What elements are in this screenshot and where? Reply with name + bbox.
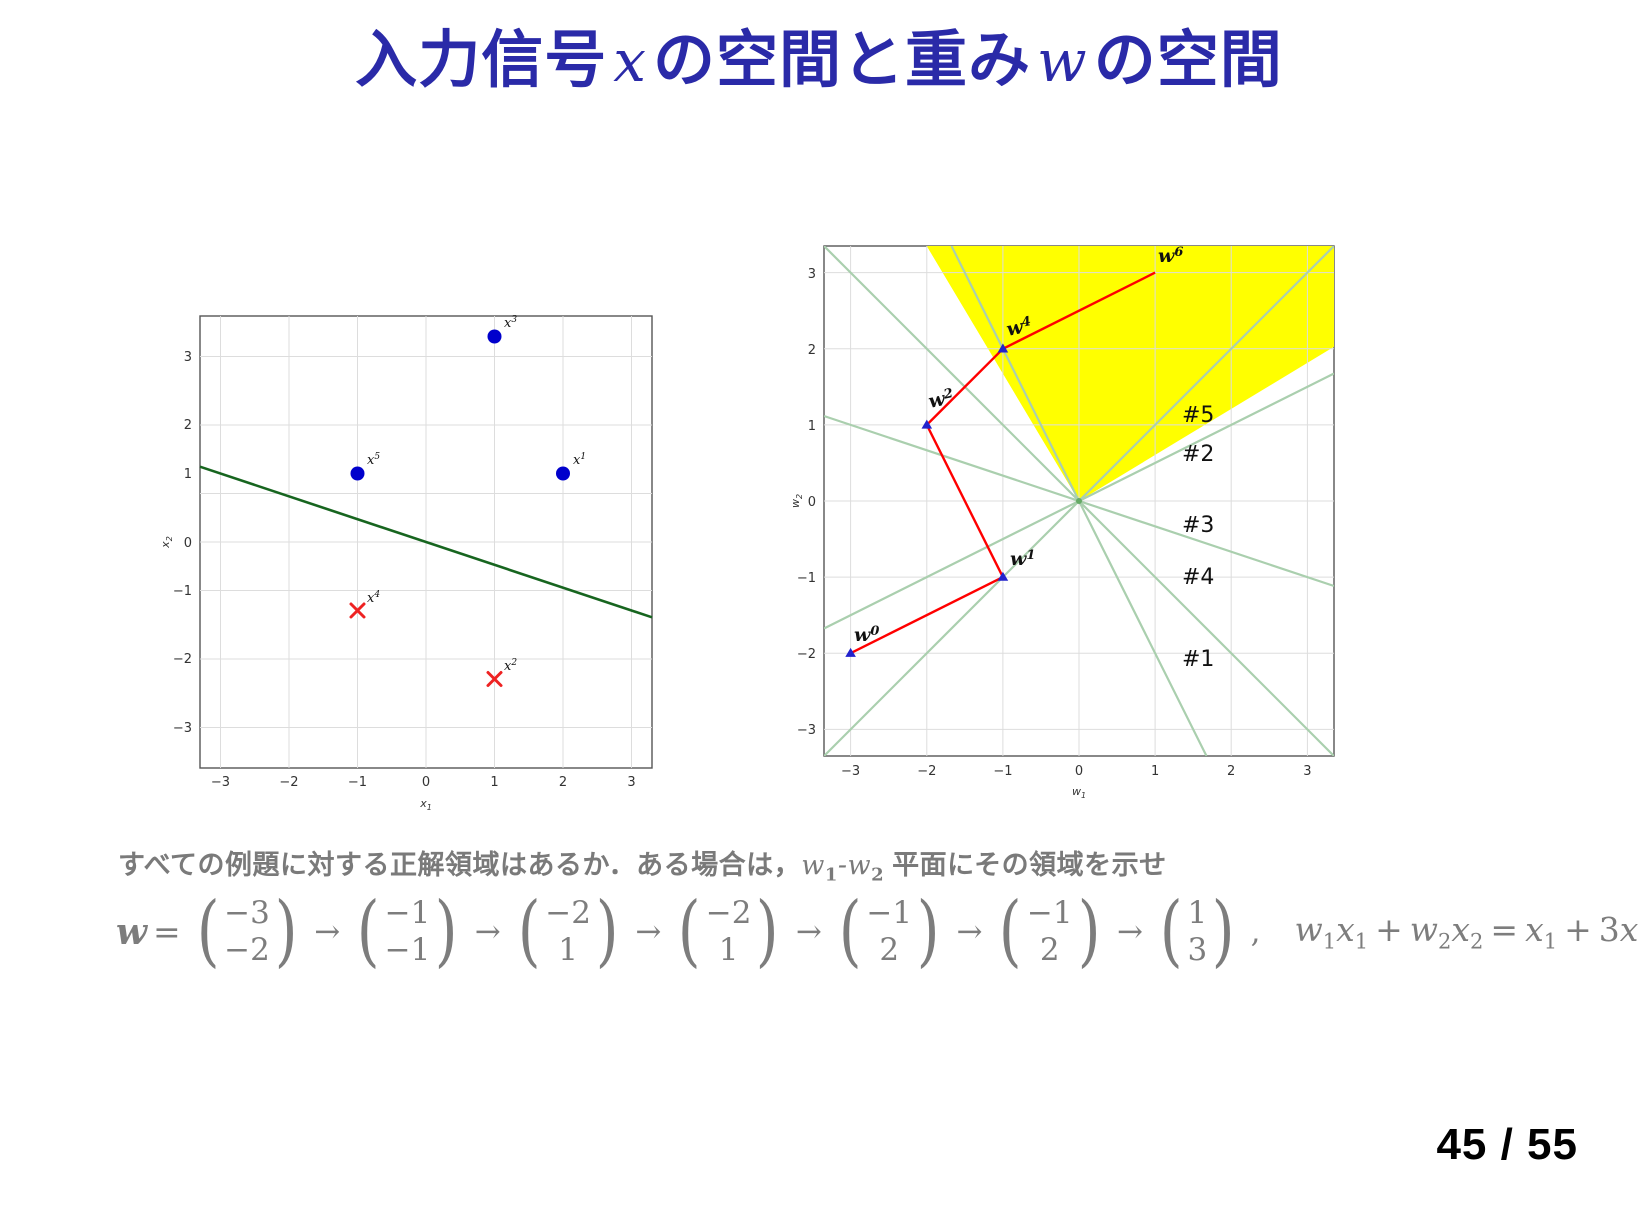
paren-close: ) xyxy=(1212,907,1235,955)
question-math-w1: w xyxy=(801,850,825,881)
weight-update-equation: w = ( −3 −2 ) → ( −1 −1 ) → ( −2 1 xyxy=(116,895,1638,968)
tail-x1: x xyxy=(1336,910,1355,949)
tail-x1b-sub: 1 xyxy=(1544,929,1557,953)
equation-equals: = xyxy=(153,912,181,951)
vector-3-bottom: 1 xyxy=(719,932,739,969)
arrow-5: → xyxy=(1117,914,1143,950)
svg-text:0: 0 xyxy=(422,775,430,790)
svg-text:2: 2 xyxy=(184,418,192,433)
vector-5-top: −1 xyxy=(1027,895,1073,932)
question-text: すべての例題に対する正解領域はあるか．ある場合は，w1-w2 平面にその領域を示… xyxy=(118,843,1167,885)
svg-text:−2: −2 xyxy=(279,775,298,790)
paren-open: ( xyxy=(839,907,862,955)
arrow-3: → xyxy=(796,914,822,950)
vector-0-top: −3 xyxy=(224,895,270,932)
svg-text:2: 2 xyxy=(559,775,567,790)
svg-text:1: 1 xyxy=(184,467,192,482)
vector-3: ( −2 1 ) xyxy=(674,895,783,968)
svg-text:1: 1 xyxy=(490,775,498,790)
chart-input-space: x1 x3 x5 x4 x2 −3 −2 −1 xyxy=(152,288,682,818)
vector-4-bottom: 2 xyxy=(879,932,899,969)
svg-text:2: 2 xyxy=(1227,764,1235,779)
paren-open: ( xyxy=(678,907,701,955)
tail-x2: x xyxy=(1451,910,1470,949)
vector-0: ( −3 −2 ) xyxy=(193,895,302,968)
decision-function-equation: w1x1+w2x2=x1+3x2= 0 xyxy=(1295,910,1638,954)
vector-0-bottom: −2 xyxy=(224,932,270,969)
svg-text:−2: −2 xyxy=(797,647,816,662)
paren-close: ) xyxy=(435,907,458,955)
svg-text:−3: −3 xyxy=(211,775,230,790)
svg-text:−1: −1 xyxy=(797,571,816,586)
svg-text:−2: −2 xyxy=(917,764,936,779)
title-var-x: x xyxy=(607,27,653,95)
vector-4-top: −1 xyxy=(866,895,912,932)
svg-text:−1: −1 xyxy=(993,764,1012,779)
y-axis-label: x2 xyxy=(159,536,174,549)
svg-text:−3: −3 xyxy=(173,721,192,736)
vector-5: ( −1 2 ) xyxy=(995,895,1104,968)
paren-close: ) xyxy=(275,907,298,955)
paren-close: ) xyxy=(756,907,779,955)
svg-text:1: 1 xyxy=(1151,764,1159,779)
constraint-label-2: #2 xyxy=(1182,442,1214,467)
svg-text:−3: −3 xyxy=(841,764,860,779)
x-axis-label: x1 xyxy=(419,797,432,812)
svg-text:2: 2 xyxy=(808,343,816,358)
input-space-svg: x1 x3 x5 x4 x2 −3 −2 −1 xyxy=(152,288,682,818)
question-text-b: 平面にその領域を示せ xyxy=(892,850,1166,880)
paren-close: ) xyxy=(1077,907,1100,955)
vector-1-bottom: −1 xyxy=(385,932,431,969)
origin-marker xyxy=(1076,498,1082,504)
svg-text:−2: −2 xyxy=(173,652,192,667)
svg-text:−1: −1 xyxy=(173,584,192,599)
constraint-label-5: #5 xyxy=(1182,403,1214,428)
constraint-label-3: #3 xyxy=(1182,513,1214,538)
weight-space-svg: w0 w1 w2 w4 w6 #5 #2 #3 #4 #1 −3 −2 −1 0… xyxy=(786,232,1362,808)
vector-2: ( −2 1 ) xyxy=(514,895,623,968)
svg-text:0: 0 xyxy=(808,495,816,510)
paren-open: ( xyxy=(518,907,541,955)
title-prefix: 入力信号 xyxy=(355,26,607,95)
svg-text:−3: −3 xyxy=(797,723,816,738)
vector-5-bottom: 2 xyxy=(1040,932,1060,969)
tail-w2: w xyxy=(1410,910,1438,949)
arrow-4: → xyxy=(956,914,982,950)
vector-6: ( 1 3 ) xyxy=(1156,895,1239,968)
vector-3-top: −2 xyxy=(706,895,752,932)
svg-text:3: 3 xyxy=(627,775,635,790)
x-axis-label: w1 xyxy=(1072,785,1086,800)
question-text-a: すべての例題に対する正解領域はあるか．ある場合は， xyxy=(118,850,801,880)
question-math-sub2: 2 xyxy=(871,864,884,885)
vector-1: ( −1 −1 ) xyxy=(353,895,462,968)
vector-2-top: −2 xyxy=(545,895,591,932)
data-point-x3 xyxy=(488,330,502,344)
tail-x1-sub: 1 xyxy=(1355,929,1368,953)
tail-x2b: x xyxy=(1620,910,1638,949)
question-math-w2: w xyxy=(847,850,871,881)
page-number: 45 / 55 xyxy=(1436,1120,1578,1170)
paren-close: ) xyxy=(917,907,940,955)
title-var-w: w xyxy=(1031,27,1094,95)
svg-text:3: 3 xyxy=(808,267,816,282)
svg-text:0: 0 xyxy=(184,536,192,551)
paren-open: ( xyxy=(1160,907,1183,955)
arrow-2: → xyxy=(635,914,661,950)
tail-x1b: x xyxy=(1525,910,1544,949)
equation-comma: , xyxy=(1251,914,1261,950)
paren-open: ( xyxy=(196,907,219,955)
vector-6-top: 1 xyxy=(1187,895,1207,932)
vector-1-top: −1 xyxy=(385,895,431,932)
page-title: 入力信号xの空間と重みwの空間 xyxy=(0,24,1638,98)
svg-text:3: 3 xyxy=(1303,764,1311,779)
title-middle: の空間と重み xyxy=(653,26,1031,95)
vector-6-bottom: 3 xyxy=(1187,932,1207,969)
constraint-label-1: #1 xyxy=(1182,647,1214,672)
arrow-0: → xyxy=(314,914,340,950)
svg-text:0: 0 xyxy=(1075,764,1083,779)
tail-plus-1: + xyxy=(1368,910,1410,949)
data-point-x5 xyxy=(351,467,365,481)
vector-2-bottom: 1 xyxy=(558,932,578,969)
tail-coefficient-3: 3 xyxy=(1599,910,1620,949)
arrow-1: → xyxy=(475,914,501,950)
tail-equals-1: = xyxy=(1483,910,1525,949)
paren-close: ) xyxy=(596,907,619,955)
question-math-sub1: 1 xyxy=(825,864,838,885)
svg-text:−1: −1 xyxy=(348,775,367,790)
constraint-label-4: #4 xyxy=(1182,565,1214,590)
tail-w1: w xyxy=(1295,910,1323,949)
vector-4: ( −1 2 ) xyxy=(835,895,944,968)
tail-w1-sub: 1 xyxy=(1323,929,1336,953)
chart-weight-space: w0 w1 w2 w4 w6 #5 #2 #3 #4 #1 −3 −2 −1 0… xyxy=(786,232,1362,808)
slide: 入力信号xの空間と重みwの空間 xyxy=(0,0,1638,1232)
equation-lhs: w xyxy=(116,911,147,953)
x-tick-labels: −3 −2 −1 0 1 2 3 xyxy=(211,775,636,790)
svg-text:3: 3 xyxy=(184,350,192,365)
paren-open: ( xyxy=(357,907,380,955)
svg-text:1: 1 xyxy=(808,419,816,434)
data-point-x1 xyxy=(556,467,570,481)
title-suffix: の空間 xyxy=(1094,26,1283,95)
y-axis-label: w2 xyxy=(789,494,804,508)
tail-x2-sub: 2 xyxy=(1470,929,1483,953)
paren-open: ( xyxy=(999,907,1022,955)
x-tick-labels: −3 −2 −1 0 1 2 3 xyxy=(841,764,1312,779)
tail-w2-sub: 2 xyxy=(1438,929,1451,953)
y-tick-labels: −3 −2 −1 0 1 2 3 xyxy=(173,350,192,736)
tail-plus-2: + xyxy=(1557,910,1599,949)
